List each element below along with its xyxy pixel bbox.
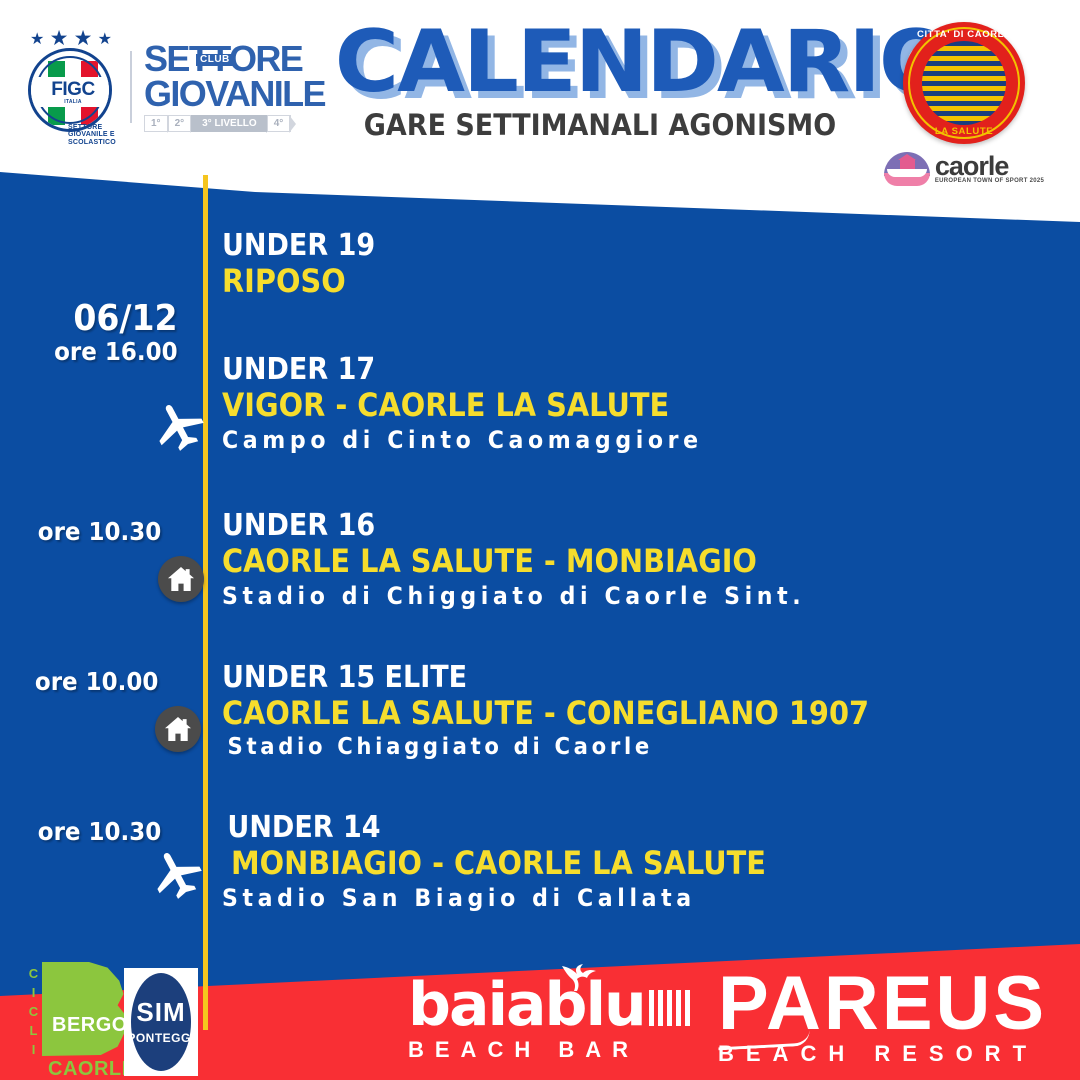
caorle-town-of-sport-logo: caorle EUROPEAN TOWN OF SPORT 2025	[874, 152, 1054, 186]
poster-header: ★ ★ ★ ★ FIGC ITALIA SETTOREGIOVANILE ESC…	[0, 0, 1080, 180]
sponsor-pareus: PAREUS BEACH RESORT	[718, 968, 1054, 1065]
figc-shield-icon: ★ ★ ★ ★ FIGC ITALIA SETTOREGIOVANILE ESC…	[22, 32, 118, 142]
bergo-b-mark-icon	[42, 962, 126, 1056]
star-icon: ★	[30, 32, 44, 48]
figc-italia-text: ITALIA	[64, 99, 82, 105]
caorle-sport-text: caorle EUROPEAN TOWN OF SPORT 2025	[935, 154, 1044, 184]
citta-di-caorle-badge-icon: CITTA' DI CAORLE LA SALUTE	[903, 22, 1025, 144]
settore-line-2: GIOVANILE	[144, 77, 325, 111]
level-2: 2°	[168, 115, 192, 132]
logo-separator	[130, 51, 132, 123]
level-3-active: 3° LIVELLO	[191, 115, 267, 132]
pareus-name-text: PAREUS	[718, 968, 1054, 1039]
bergo-city-text: CAORLE	[48, 1058, 135, 1080]
level-4: 4°	[267, 115, 292, 132]
sponsor-sim-ponteggi: SIM PONTEGGI	[124, 968, 198, 1076]
star-icon: ★	[74, 28, 93, 49]
sponsor-baiablu: baiablu BEACH BAR	[408, 978, 684, 1061]
badge-bottom-text: LA SALUTE	[903, 126, 1025, 137]
figc-emblem: FIGC ITALIA	[28, 48, 112, 132]
figc-settore-giovanile-logo: ★ ★ ★ ★ FIGC ITALIA SETTOREGIOVANILE ESC…	[22, 32, 325, 142]
star-icon: ★	[50, 28, 69, 49]
baiablu-name-text: baiablu	[408, 978, 684, 1033]
settore-line-1: SETTORE CLUB	[144, 42, 325, 76]
sim-sub-text: PONTEGGI	[127, 1031, 194, 1045]
palm-bird-icon	[558, 964, 602, 992]
bergo-name-text: BERGO	[52, 1014, 128, 1037]
page-title: CALENDARIO	[335, 22, 865, 104]
figc-caption: SETTOREGIOVANILE ESCOLASTICO	[68, 124, 116, 146]
star-icon: ★	[98, 32, 112, 48]
title-block: CALENDARIO GARE SETTIMANALI AGONISMO	[340, 22, 860, 142]
figc-wordmark: FIGC ITALIA	[31, 77, 112, 107]
baiablu-bars-icon	[649, 990, 690, 1026]
caorle-name: caorle	[935, 154, 1044, 178]
settore-giovanile-wordmark: SETTORE CLUB GIOVANILE 1° 2° 3° LIVELLO …	[144, 42, 325, 132]
sim-oval-icon: SIM PONTEGGI	[131, 973, 191, 1071]
caorle-logos: CITTA' DI CAORLE LA SALUTE caorle EUROPE…	[874, 22, 1054, 186]
sim-name-text: SIM	[136, 999, 185, 1025]
calendar-poster: ★ ★ ★ ★ FIGC ITALIA SETTOREGIOVANILE ESC…	[0, 0, 1080, 1080]
badge-waves	[922, 41, 1006, 125]
bergo-cicli-text: CICLI	[24, 966, 40, 1050]
caorle-tagline: EUROPEAN TOWN OF SPORT 2025	[935, 178, 1044, 184]
badge-top-text: CITTA' DI CAORLE	[903, 29, 1025, 40]
caorle-arch-icon	[884, 152, 930, 186]
page-subtitle: GARE SETTIMANALI AGONISMO	[358, 108, 842, 142]
figc-text: FIGC	[51, 80, 94, 99]
baiablu-sub-text: BEACH BAR	[408, 1039, 684, 1061]
wave-shape	[884, 173, 930, 186]
club-chip: CLUB	[196, 54, 234, 66]
level-indicator: 1° 2° 3° LIVELLO 4°	[144, 115, 325, 132]
level-1: 1°	[144, 115, 168, 132]
